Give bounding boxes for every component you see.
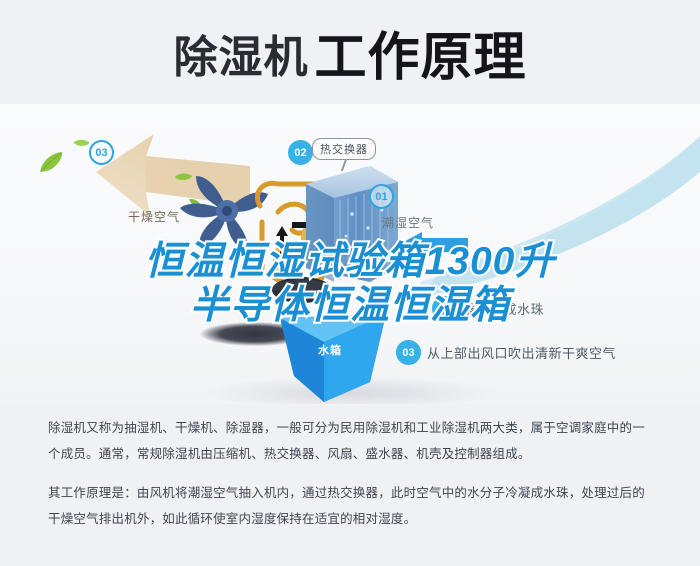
caption-moist-air: 潮湿空气 (382, 214, 434, 231)
caption-dry-air: 干燥空气 (128, 208, 180, 225)
badge-03: 03 (89, 140, 114, 165)
badge-01: 01 (369, 184, 394, 209)
step-text-03: 从上部出风口吹出清新干爽空气 (427, 343, 616, 362)
body-copy: 除湿机又称为抽湿机、干燥机、除湿器，一般可分为民用除湿机和工业除湿机两大类，属于… (48, 416, 656, 533)
badge-step-02: 02 (432, 296, 457, 321)
badge-step-03: 03 (396, 340, 421, 365)
page-root: 除湿机 工作原理 (0, 0, 700, 566)
step-item-02: 02 器冷凝成水珠 (432, 296, 544, 321)
water-tank-label: 水箱 (318, 342, 342, 358)
badge-02: 02 (288, 140, 313, 165)
step-item-03: 03 从上部出风口吹出清新干爽空气 (396, 340, 616, 365)
page-title-primary: 除湿机 (173, 36, 308, 80)
body-paragraph-1: 除湿机又称为抽湿机、干燥机、除湿器，一般可分为民用除湿机和工业除湿机两大类，属于… (48, 416, 656, 467)
step-text-02: 器冷凝成水珠 (463, 299, 544, 318)
page-title: 除湿机 工作原理 (0, 18, 700, 98)
water-tank-graphic (278, 312, 390, 404)
callout-heat-exchanger: 热交换器 (312, 138, 376, 160)
air-inlet-arrow-icon (398, 232, 468, 258)
body-paragraph-2: 其工作原理是：由风机将潮湿空气抽入机内，通过热交换器，此时空气中的水分子冷凝成水… (48, 481, 656, 532)
page-title-secondary: 工作原理 (314, 32, 526, 84)
